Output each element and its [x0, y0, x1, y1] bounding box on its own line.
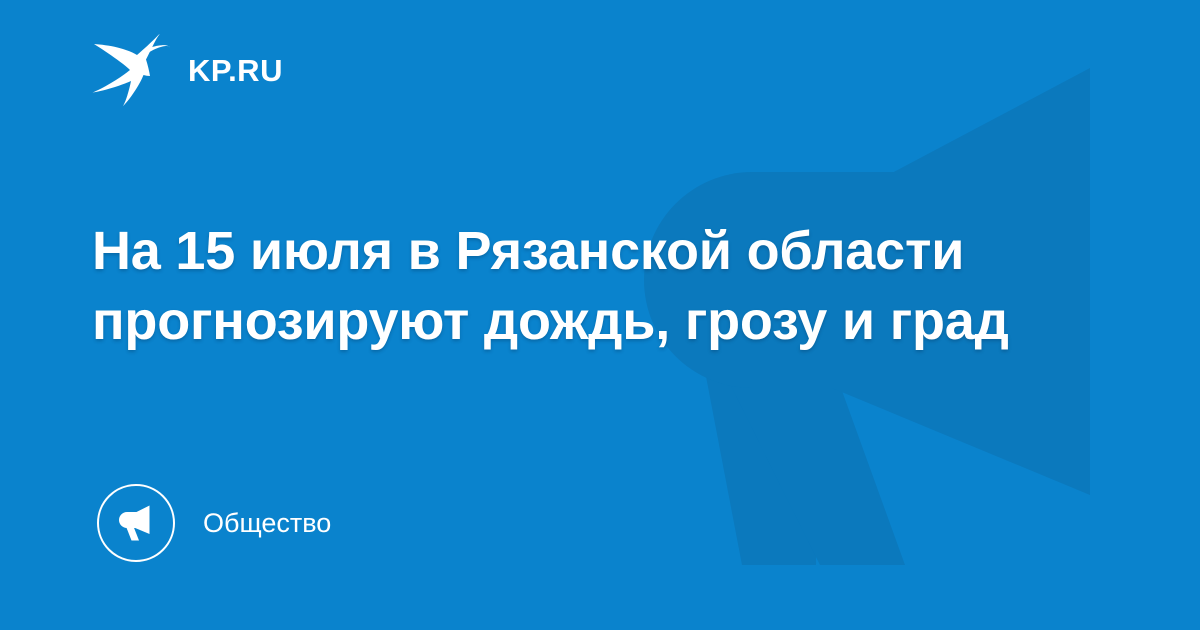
category-badge[interactable]: Общество: [97, 482, 331, 564]
megaphone-icon: [113, 500, 159, 546]
category-label: Общество: [203, 510, 331, 537]
headline-line-2: прогнозируют дождь, грозу и град: [92, 286, 1102, 356]
swallow-bird-icon: [92, 33, 170, 107]
site-logo-header[interactable]: KP.RU: [92, 33, 283, 107]
brand-wordmark: KP.RU: [188, 55, 283, 86]
megaphone-icon-circle: [97, 484, 175, 562]
page-title: На 15 июля в Рязанской области прогнозир…: [92, 216, 1102, 356]
headline-line-1: На 15 июля в Рязанской области: [92, 216, 1102, 286]
social-share-card: KP.RU На 15 июля в Рязанской области про…: [0, 0, 1200, 630]
